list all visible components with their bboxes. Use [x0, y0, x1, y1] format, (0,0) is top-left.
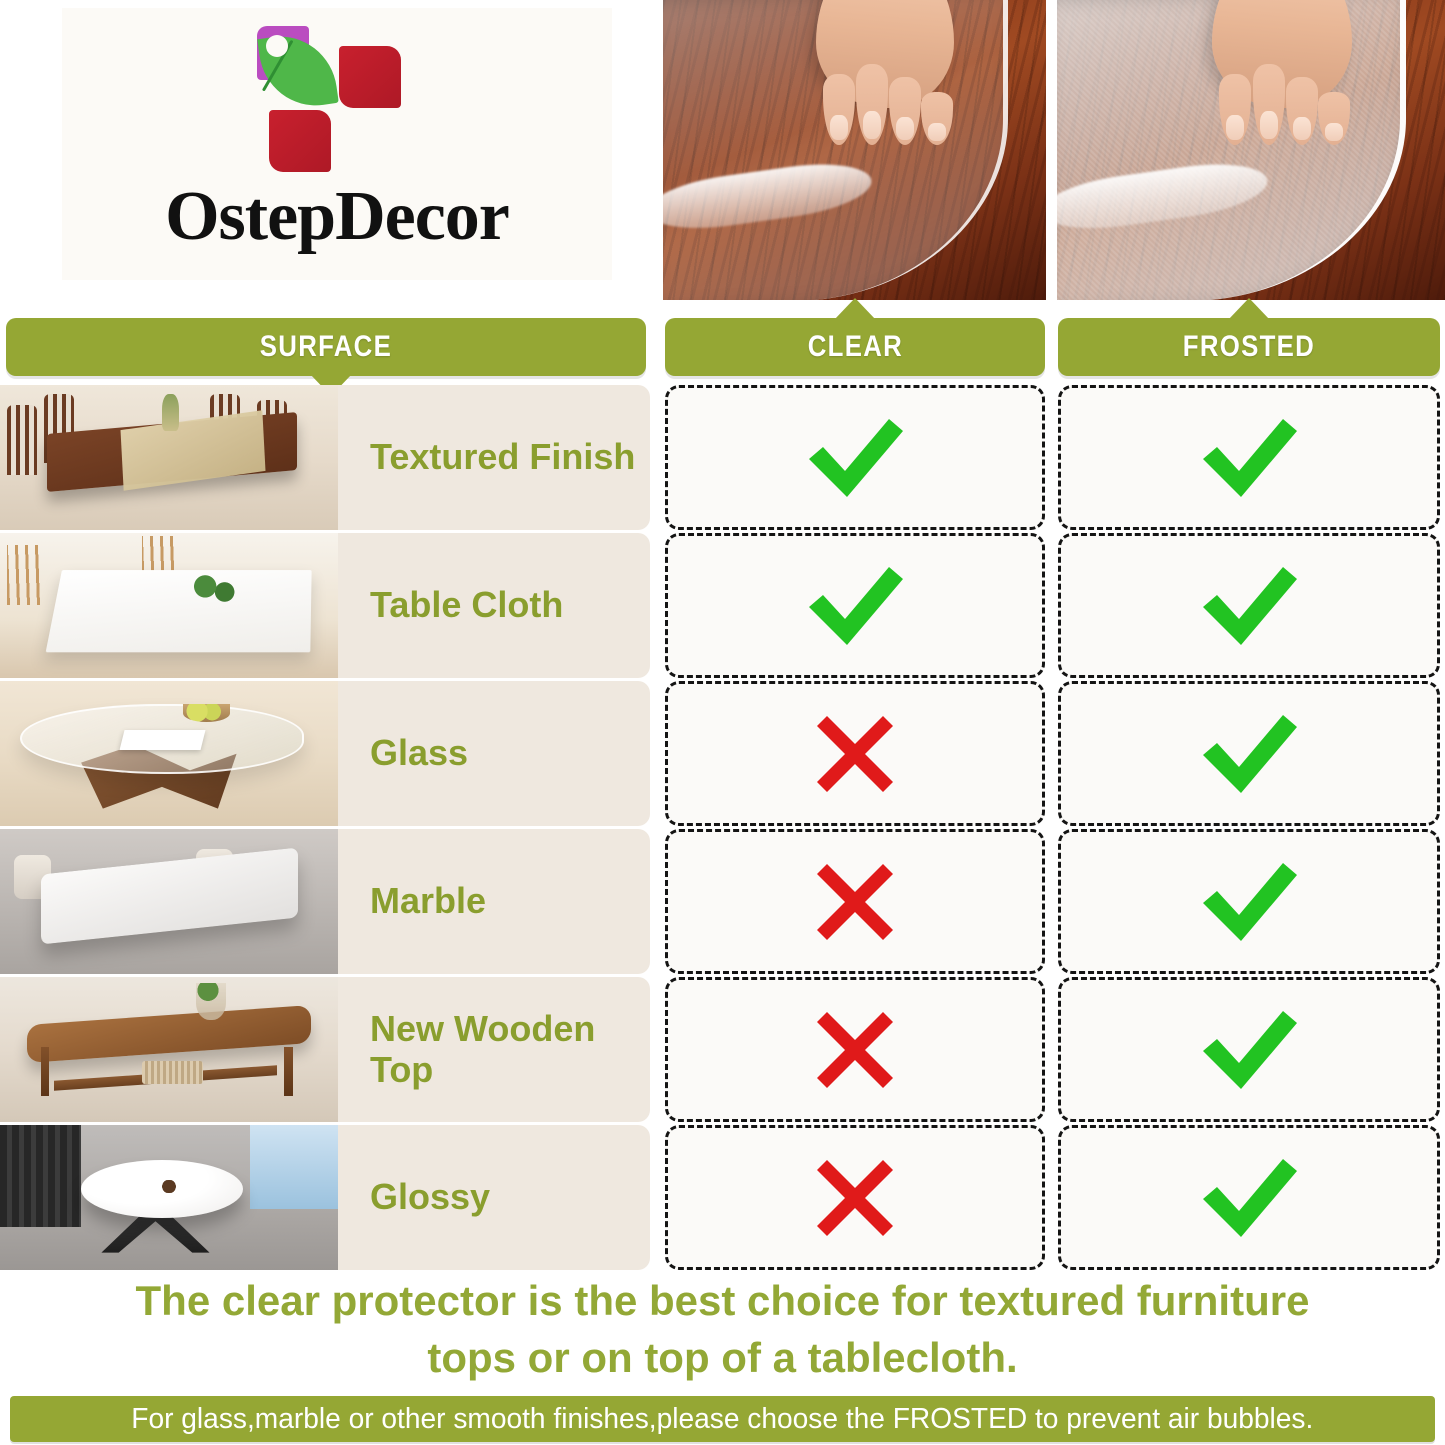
fingernail [863, 111, 881, 139]
surface-thumbnail [0, 1125, 338, 1270]
surface-label-text: Glass [370, 733, 468, 773]
brand-logo: OstepDecor [62, 8, 612, 280]
surface-thumbnail [0, 977, 338, 1122]
check-icon [1197, 565, 1301, 647]
surface-thumbnail [0, 385, 338, 530]
fingernail [1293, 117, 1311, 140]
hand-icon [816, 0, 954, 108]
cross-icon [815, 862, 895, 942]
surface-thumbnail [0, 533, 338, 678]
column-header-frosted-label: FROSTED [1183, 330, 1315, 364]
surface-label-text: Textured Finish [370, 437, 635, 477]
surface-label: New Wooden Top [338, 977, 650, 1122]
floral-leaf-logo-icon [257, 26, 417, 171]
glossy-round-table-scene [0, 1125, 338, 1270]
surface-label: Glass [338, 681, 650, 826]
table-row: New Wooden Top [0, 977, 1445, 1122]
white-tablecloth-scene [0, 533, 338, 678]
surface-label: Textured Finish [338, 385, 650, 530]
fingernail [896, 117, 914, 140]
brand-name: OstepDecor [165, 177, 509, 257]
chevron-up-icon [1228, 298, 1270, 320]
surface-label: Table Cloth [338, 533, 650, 678]
footer-note-text: For glass,marble or other smooth finishe… [131, 1403, 1313, 1436]
check-icon [803, 417, 907, 499]
surface-thumbnail [0, 829, 338, 974]
cell-clear [665, 681, 1045, 826]
table-row: Glossy [0, 1125, 1445, 1270]
fingernail [1226, 115, 1244, 139]
check-icon [803, 565, 907, 647]
surface-label-text: Marble [370, 881, 486, 921]
check-icon [1197, 861, 1301, 943]
column-header-clear-label: CLEAR [807, 330, 902, 364]
top-band: OstepDecor [0, 0, 1445, 300]
cell-clear [665, 533, 1045, 678]
table-row: Textured Finish [0, 385, 1445, 530]
logo-square-bottom-left [269, 110, 331, 172]
fingernail [1325, 123, 1343, 141]
surface-label-text: Table Cloth [370, 585, 563, 625]
footer-note-bar: For glass,marble or other smooth finishe… [10, 1396, 1435, 1442]
fingernail [928, 123, 946, 141]
column-header-frosted: FROSTED [1058, 318, 1440, 376]
cell-clear [665, 1125, 1045, 1270]
surface-label: Glossy [338, 1125, 650, 1270]
cross-icon [815, 1010, 895, 1090]
cell-clear [665, 385, 1045, 530]
frosted-product-photo [1057, 0, 1445, 300]
table-row: Marble [0, 829, 1445, 974]
wooden-coffee-table-scene [0, 977, 338, 1122]
cross-icon [815, 1158, 895, 1238]
surface-label-text: New Wooden Top [370, 1009, 650, 1090]
table-row: Table Cloth [0, 533, 1445, 678]
tagline-line-1: The clear protector is the best choice f… [136, 1277, 1310, 1324]
tagline-line-2: tops or on top of a tablecloth. [70, 1329, 1375, 1386]
clear-product-photo [663, 0, 1046, 300]
cell-frosted [1058, 533, 1440, 678]
surface-label-text: Glossy [370, 1177, 490, 1217]
tagline: The clear protector is the best choice f… [0, 1272, 1445, 1386]
column-header-surface: SURFACE [6, 318, 646, 376]
cell-frosted [1058, 681, 1440, 826]
check-icon [1197, 713, 1301, 795]
infographic-page: OstepDecor [0, 0, 1445, 1445]
cell-frosted [1058, 829, 1440, 974]
chevron-up-icon [834, 298, 876, 320]
cell-frosted [1058, 1125, 1440, 1270]
fingernail [830, 115, 848, 139]
check-icon [1197, 1157, 1301, 1239]
comparison-table: Textured Finish [0, 385, 1445, 1273]
cell-frosted [1058, 385, 1440, 530]
sheet-edge-highlight [1057, 156, 1270, 237]
dark-wood-dining-scene [0, 385, 338, 530]
cell-clear [665, 829, 1045, 974]
glass-table-scene [0, 681, 338, 826]
check-icon [1197, 417, 1301, 499]
marble-table-scene [0, 829, 338, 974]
cell-frosted [1058, 977, 1440, 1122]
fingernail [1260, 111, 1278, 139]
cross-icon [815, 714, 895, 794]
column-header-clear: CLEAR [665, 318, 1045, 376]
surface-label: Marble [338, 829, 650, 974]
hand-icon [1212, 0, 1352, 108]
column-header-surface-label: SURFACE [260, 330, 392, 364]
sheet-edge-highlight [663, 156, 874, 237]
table-row: Glass [0, 681, 1445, 826]
logo-square-top-right [339, 46, 401, 108]
check-icon [1197, 1009, 1301, 1091]
surface-thumbnail [0, 681, 338, 826]
cell-clear [665, 977, 1045, 1122]
